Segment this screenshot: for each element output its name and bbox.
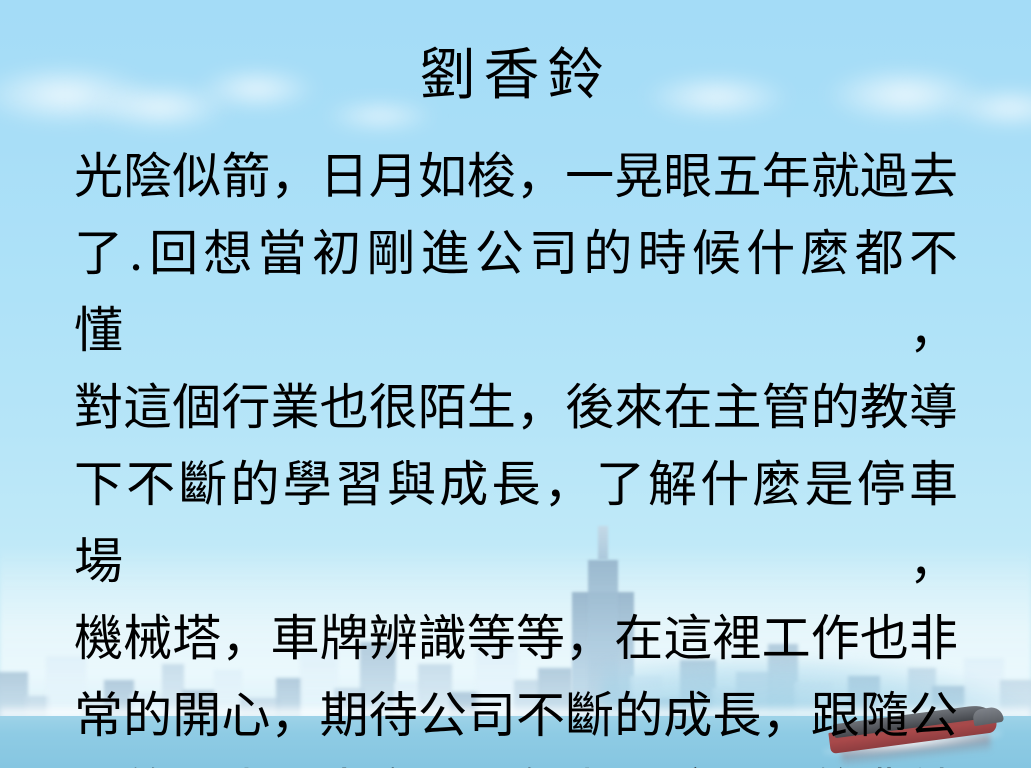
slide-canvas: 劉香鈴 光陰似箭，日月如梭，一晃眼五年就過去 了.回想當初剛進公司的時候什麼都不… xyxy=(0,0,1031,768)
body-line: 司的腳步，大家共同努力，讓公司的業績 xyxy=(74,754,958,768)
body-line: 常的開心，期待公司不斷的成長，跟隨公 xyxy=(74,677,958,754)
body-text: 光陰似箭，日月如梭，一晃眼五年就過去 了.回想當初剛進公司的時候什麼都不懂， 對… xyxy=(74,138,958,768)
body-line: 光陰似箭，日月如梭，一晃眼五年就過去 xyxy=(74,138,958,215)
slide-content: 劉香鈴 光陰似箭，日月如梭，一晃眼五年就過去 了.回想當初剛進公司的時候什麼都不… xyxy=(0,0,1031,768)
body-line: 了.回想當初剛進公司的時候什麼都不懂， xyxy=(74,215,958,369)
body-line: 下不斷的學習與成長，了解什麼是停車場， xyxy=(74,446,958,600)
body-line: 對這個行業也很陌生，後來在主管的教導 xyxy=(74,369,958,446)
page-title: 劉香鈴 xyxy=(0,44,1031,108)
body-line: 機械塔，車牌辨識等等，在這裡工作也非 xyxy=(74,600,958,677)
